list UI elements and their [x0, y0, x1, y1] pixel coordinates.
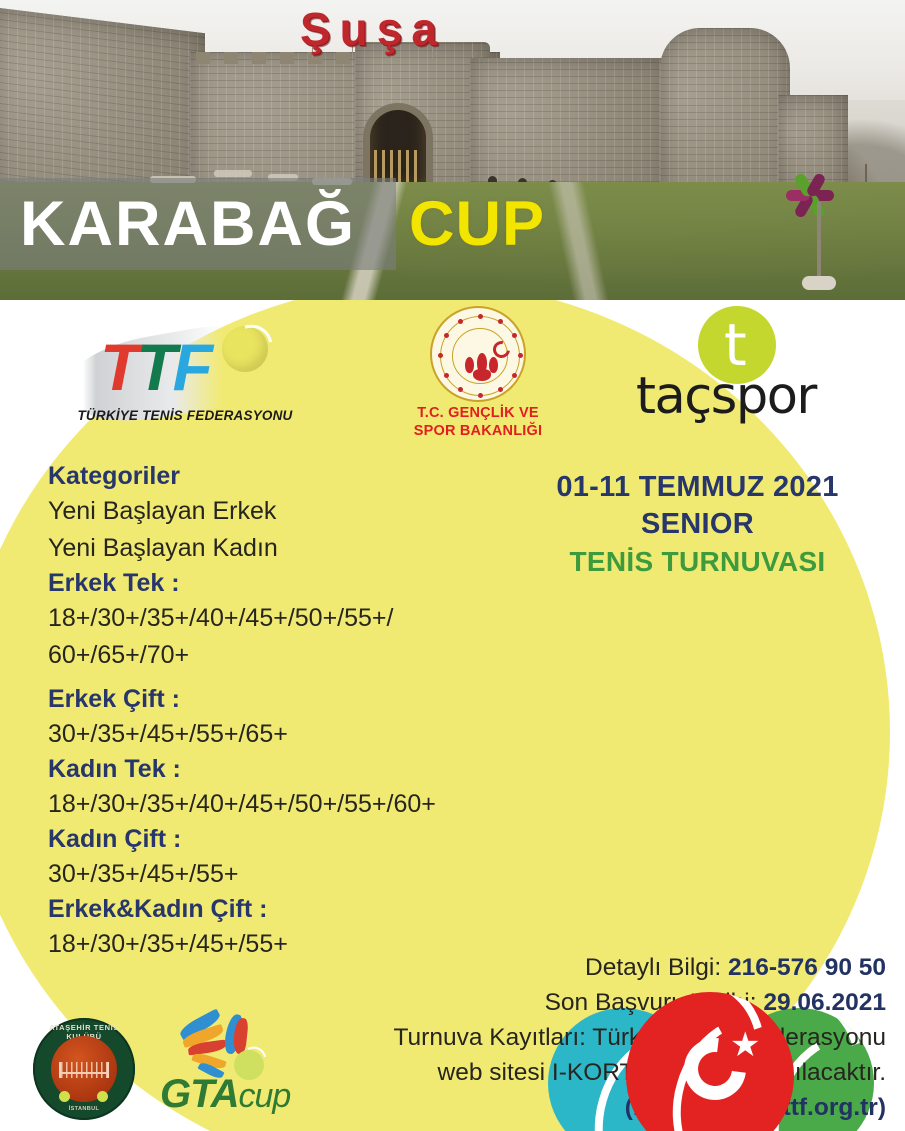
hero-photo: Şuşa KARABAĞ CUP [0, 0, 905, 300]
ministry-seal-inner-ring [452, 328, 508, 384]
gta-wordmark: GTAcup [160, 1070, 340, 1120]
ttf-letter-3: F [173, 330, 209, 404]
deadline-row: Son Başvuru Tarihi: 29.06.2021 [330, 985, 886, 1020]
registration-line-1: Turnuva Kayıtları: Türkiye Tenis Federas… [330, 1020, 886, 1055]
ttf-letter-1: T [100, 330, 136, 404]
ttf-logo-name: TÜRKİYE TENİS FEDERASYONU [70, 408, 300, 423]
category-values-kadin-tek: 18+/30+/35+/40+/45+/50+/55+/60+ [48, 786, 518, 823]
gta-word-main: GTA [160, 1072, 238, 1116]
poster-title-accent: CUP [409, 186, 545, 262]
content-area: TTF TÜRKİYE TENİS FEDERASYONU [0, 300, 905, 1131]
category-values-erkek-cift: 30+/35+/45+/55+/65+ [48, 716, 518, 753]
category-label-erkek-tek: Erkek Tek : [48, 567, 518, 600]
pinwheel-sculpture [786, 172, 850, 292]
registration-line-2: web sitesi I-KORT üzerinden yapılacaktır… [330, 1055, 886, 1090]
categories-heading: Kategoriler [48, 460, 518, 493]
ministry-seal-icon [430, 306, 526, 402]
registration-url[interactable]: (https://i-kort.ttf.org.tr) [330, 1090, 886, 1126]
category-label-kadin-cift: Kadın Çift : [48, 823, 518, 856]
ministry-name-line-1: T.C. GENÇLİK VE [378, 404, 578, 422]
spacer [48, 674, 518, 683]
event-dates: 01-11 TEMMUZ 2021 [505, 468, 890, 506]
ministry-name-line-2: SPOR BAKANLIĞI [378, 422, 578, 440]
category-plain-2: Yeni Başlayan Kadın [48, 530, 518, 567]
category-label-kadin-tek: Kadın Tek : [48, 753, 518, 786]
ministry-logo-name: T.C. GENÇLİK VE SPOR BAKANLIĞI [378, 404, 578, 440]
susa-sign-text: Şuşa [300, 2, 446, 56]
category-plain-1: Yeni Başlayan Erkek [48, 493, 518, 530]
tacspor-logo: t taçspor [640, 306, 860, 444]
phone-row: Detaylı Bilgi: 216-576 90 50 [330, 950, 886, 985]
ministry-logo: T.C. GENÇLİK VE SPOR BAKANLIĞI [378, 304, 578, 444]
category-label-erkek-cift: Erkek Çift : [48, 683, 518, 716]
gta-cup-logo: GTAcup [160, 1012, 340, 1122]
contact-info-block: Detaylı Bilgi: 216-576 90 50 Son Başvuru… [330, 950, 886, 1126]
ttf-monogram: TTF [100, 334, 209, 400]
category-values-erkek-tek-line1: 18+/30+/35+/40+/45+/50+/55+/ [48, 600, 518, 637]
categories-block: Kategoriler Yeni Başlayan Erkek Yeni Baş… [48, 460, 518, 963]
atasehir-tennis-club-logo: ATAŞEHİR TENİS KULÜBÜ İSTANBUL [33, 1018, 135, 1120]
ttf-letter-2: T [136, 330, 172, 404]
club-badge-text-bottom: İSTANBUL [33, 1106, 135, 1112]
tacspor-t-mark: t [724, 316, 747, 374]
category-label-mixed-cift: Erkek&Kadın Çift : [48, 893, 518, 926]
poster-root: Şuşa KARABAĞ CUP TTF TÜRKİYE TENİS FEDER… [0, 0, 905, 1131]
bridge-icon [59, 1062, 109, 1078]
gta-word-sub: cup [238, 1077, 290, 1115]
ttf-tennis-ball-icon [222, 326, 268, 372]
sponsor-logo-row: TTF TÜRKİYE TENİS FEDERASYONU [0, 300, 905, 445]
category-values-erkek-tek-line2: 60+/65+/70+ [48, 637, 518, 674]
category-values-kadin-cift: 30+/35+/45+/55+ [48, 856, 518, 893]
phone-label: Detaylı Bilgi: [585, 954, 728, 981]
deadline-value: 29.06.2021 [763, 989, 886, 1016]
poster-title: KARABAĞ [20, 186, 356, 262]
event-level: SENIOR [505, 506, 890, 543]
phone-value: 216-576 90 50 [728, 954, 886, 981]
event-type: TENİS TURNUVASI [505, 543, 890, 580]
tacspor-wordmark: taçspor [636, 368, 864, 426]
ttf-logo: TTF TÜRKİYE TENİS FEDERASYONU [70, 312, 300, 442]
event-info-block: 01-11 TEMMUZ 2021 SENIOR TENİS TURNUVASI [505, 468, 890, 580]
